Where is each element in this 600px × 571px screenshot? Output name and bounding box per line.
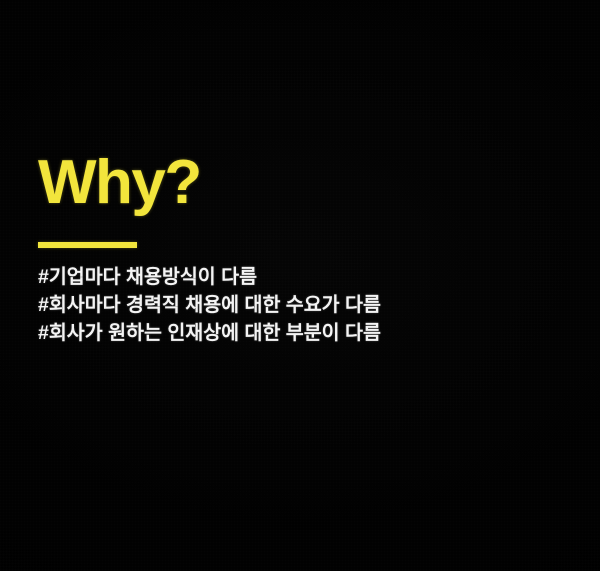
list-item: #회사가 원하는 인재상에 대한 부분이 다름 [38, 319, 381, 347]
slide-canvas: Why? #기업마다 채용방식이 다름 #회사마다 경력직 채용에 대한 수요가… [0, 0, 600, 571]
list-item: #회사마다 경력직 채용에 대한 수요가 다름 [38, 291, 381, 319]
page-title: Why? [38, 152, 201, 214]
accent-underline-divider [38, 242, 137, 248]
bullet-list: #기업마다 채용방식이 다름 #회사마다 경력직 채용에 대한 수요가 다름 #… [38, 263, 381, 347]
list-item: #기업마다 채용방식이 다름 [38, 263, 381, 291]
